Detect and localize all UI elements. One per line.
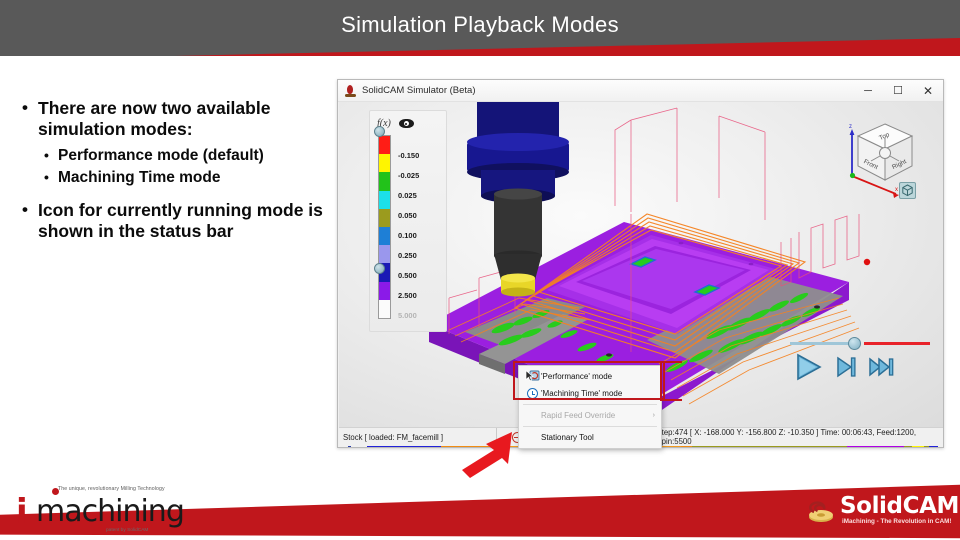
imachining-initial: i (16, 492, 28, 532)
imachining-subtitle: patent by SolidCAM (106, 528, 148, 533)
speed-slider[interactable] (790, 337, 930, 349)
list-item: • Performance mode (default) (44, 147, 332, 166)
svg-text:z: z (849, 124, 852, 130)
menu-item-label: Rapid Feed Override (541, 411, 615, 420)
list-item: • Icon for currently running mode is sho… (22, 200, 332, 243)
legend-label: -0.150 (398, 151, 419, 160)
legend-color-segment (379, 300, 390, 318)
imachining-tagline: The unique, revolutionary Milling Techno… (58, 486, 165, 492)
playback-mode-context-menu[interactable]: 'Performance' mode 'Machining Time' mode… (518, 365, 662, 449)
slide-footer: The unique, revolutionary Milling Techno… (0, 480, 960, 540)
imachining-logo: The unique, revolutionary Milling Techno… (10, 484, 190, 536)
header-red-slash (0, 38, 960, 58)
window-title: SolidCAM Simulator (Beta) (362, 85, 476, 96)
minimize-button[interactable]: ─ (853, 80, 883, 102)
isometric-view-icon[interactable] (899, 182, 916, 199)
legend-color-segment (379, 209, 390, 227)
bullet-glyph: • (44, 147, 58, 166)
menu-item-machining-time-mode[interactable]: 'Machining Time' mode (519, 385, 661, 402)
legend-toolbar: f(x) (377, 115, 441, 132)
menu-item-label: 'Machining Time' mode (541, 389, 622, 398)
chevron-right-icon: › (653, 412, 655, 419)
menu-divider (523, 426, 657, 427)
fast-forward-button[interactable] (868, 355, 896, 384)
legend-label: 2.500 (398, 291, 417, 300)
legend-label: 5.000 (398, 311, 417, 320)
legend-upper-handle[interactable] (374, 126, 385, 137)
list-item-label: Icon for currently running mode is shown… (38, 200, 332, 243)
menu-item-stationary-tool[interactable]: Stationary Tool (519, 429, 661, 446)
header-underline (0, 56, 960, 61)
menu-item-rapid-feed-override: Rapid Feed Override › (519, 407, 661, 424)
legend-color-segment (379, 282, 390, 300)
legend-label: 0.500 (398, 271, 417, 280)
slider-knob[interactable] (848, 337, 861, 350)
imachining-wordmark: machining (36, 494, 184, 529)
legend-color-segment (379, 227, 390, 245)
legend-color-bar[interactable] (378, 135, 391, 319)
legend-color-segment (379, 245, 390, 263)
legend-label: 0.050 (398, 211, 417, 220)
view-cube[interactable]: Top Front Right z x (838, 110, 932, 202)
solidcam-wordmark: SolidCAM (840, 493, 959, 519)
clock-icon (523, 388, 541, 399)
menu-item-performance-mode[interactable]: 'Performance' mode (519, 368, 661, 385)
list-item: • There are now two available simulation… (22, 98, 332, 141)
step-forward-button[interactable] (834, 355, 858, 384)
solidcam-flame-icon (344, 84, 357, 97)
bullet-glyph: • (22, 200, 38, 243)
legend-label: 0.100 (398, 231, 417, 240)
solidcam-logo: SolidCAM iMachining - The Revolution in … (802, 492, 952, 534)
spacer (22, 191, 332, 200)
legend-label: 0.250 (398, 251, 417, 260)
svg-text:x: x (895, 187, 898, 193)
legend-color-segment (379, 191, 390, 209)
legend-color-segment (379, 172, 390, 190)
status-info-text: Step:474 [ X: -168.000 Y: -156.800 Z: -1… (652, 428, 944, 446)
bullet-glyph: • (22, 98, 38, 141)
playback-controls (786, 333, 934, 385)
playback-button-group (792, 353, 934, 385)
eye-icon[interactable] (399, 119, 414, 128)
close-button[interactable]: ✕ (913, 80, 943, 102)
legend-label-group: -0.150 -0.025 0.025 0.050 0.100 0.250 0.… (398, 135, 444, 319)
legend-color-segment (379, 154, 390, 172)
legend-label: 0.025 (398, 191, 417, 200)
page-title: Simulation Playback Modes (0, 12, 960, 38)
solidcam-swirl-icon (806, 496, 836, 524)
play-button[interactable] (792, 352, 824, 387)
performance-cursor-icon (523, 370, 541, 383)
window-controls: ─ ☐ ✕ (853, 80, 943, 102)
menu-divider (523, 404, 657, 405)
menu-item-label: 'Performance' mode (541, 372, 612, 381)
window-titlebar[interactable]: SolidCAM Simulator (Beta) ─ ☐ ✕ (338, 80, 943, 102)
legend-label: -0.025 (398, 171, 419, 180)
slider-track-left (790, 342, 852, 345)
legend-color-segment (379, 136, 390, 154)
red-callout-arrow (456, 430, 516, 478)
list-item: • Machining Time mode (44, 169, 332, 188)
solidcam-tagline: iMachining - The Revolution in CAM! (842, 518, 952, 525)
bullet-list: • There are now two available simulation… (22, 98, 332, 248)
color-legend-panel[interactable]: f(x) -0.150 -0.025 0.025 0. (369, 110, 447, 332)
slider-track-right (864, 342, 930, 345)
legend-lower-handle[interactable] (374, 263, 385, 274)
bullet-glyph: • (44, 169, 58, 188)
menu-item-label: Stationary Tool (541, 433, 594, 442)
maximize-button[interactable]: ☐ (883, 80, 913, 102)
list-item-label: There are now two available simulation m… (38, 98, 332, 141)
list-item-label: Performance mode (default) (58, 147, 332, 166)
list-item-label: Machining Time mode (58, 169, 332, 188)
